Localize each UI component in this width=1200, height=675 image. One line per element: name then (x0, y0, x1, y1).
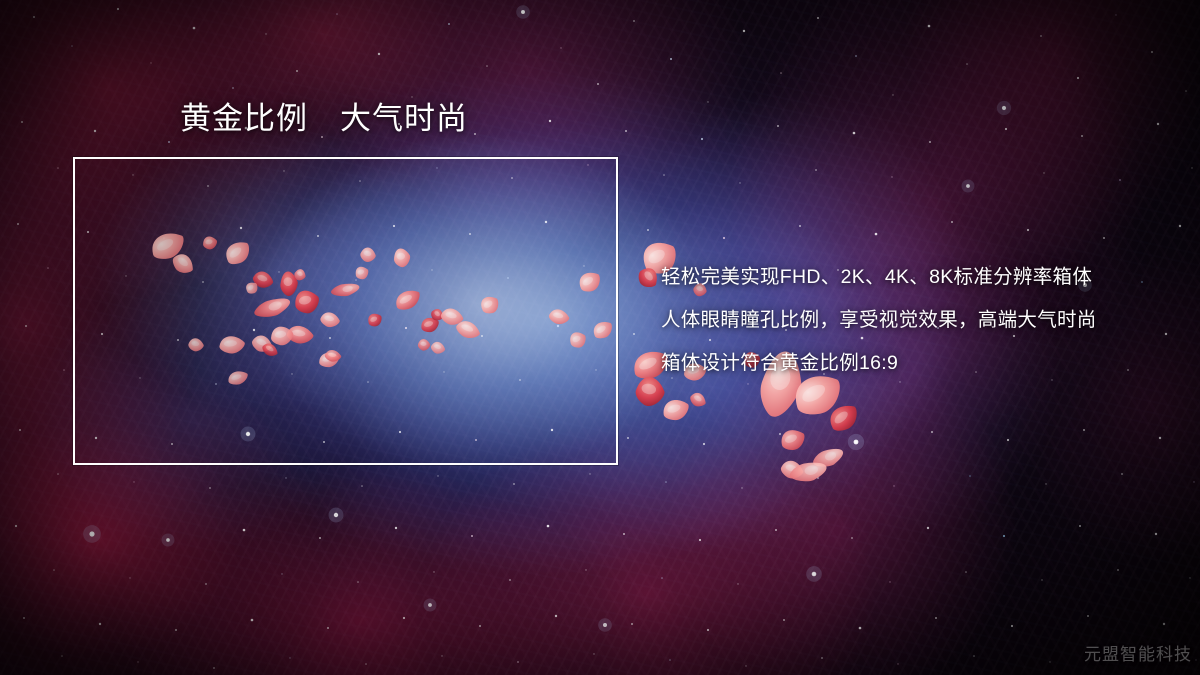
page-title: 黄金比例 大气时尚 (180, 100, 468, 137)
company-watermark: 元盟智能科技 (1084, 640, 1192, 665)
description-line-3: 箱体设计符合黄金比例16:9 (661, 342, 1191, 385)
description-line-2: 人体眼睛瞳孔比例，享受视觉效果，高端大气时尚 (661, 299, 1191, 342)
feature-description: 轻松完美实现FHD、2K、4K、8K标准分辨率箱体 人体眼睛瞳孔比例，享受视觉效… (661, 256, 1191, 385)
slide-canvas: 黄金比例 大气时尚 轻松完美实现FHD、2K、4K、8K标准分辨率箱体 人体眼睛… (0, 0, 1200, 675)
galaxy-photo-frame (73, 157, 618, 465)
description-line-1: 轻松完美实现FHD、2K、4K、8K标准分辨率箱体 (661, 256, 1191, 299)
